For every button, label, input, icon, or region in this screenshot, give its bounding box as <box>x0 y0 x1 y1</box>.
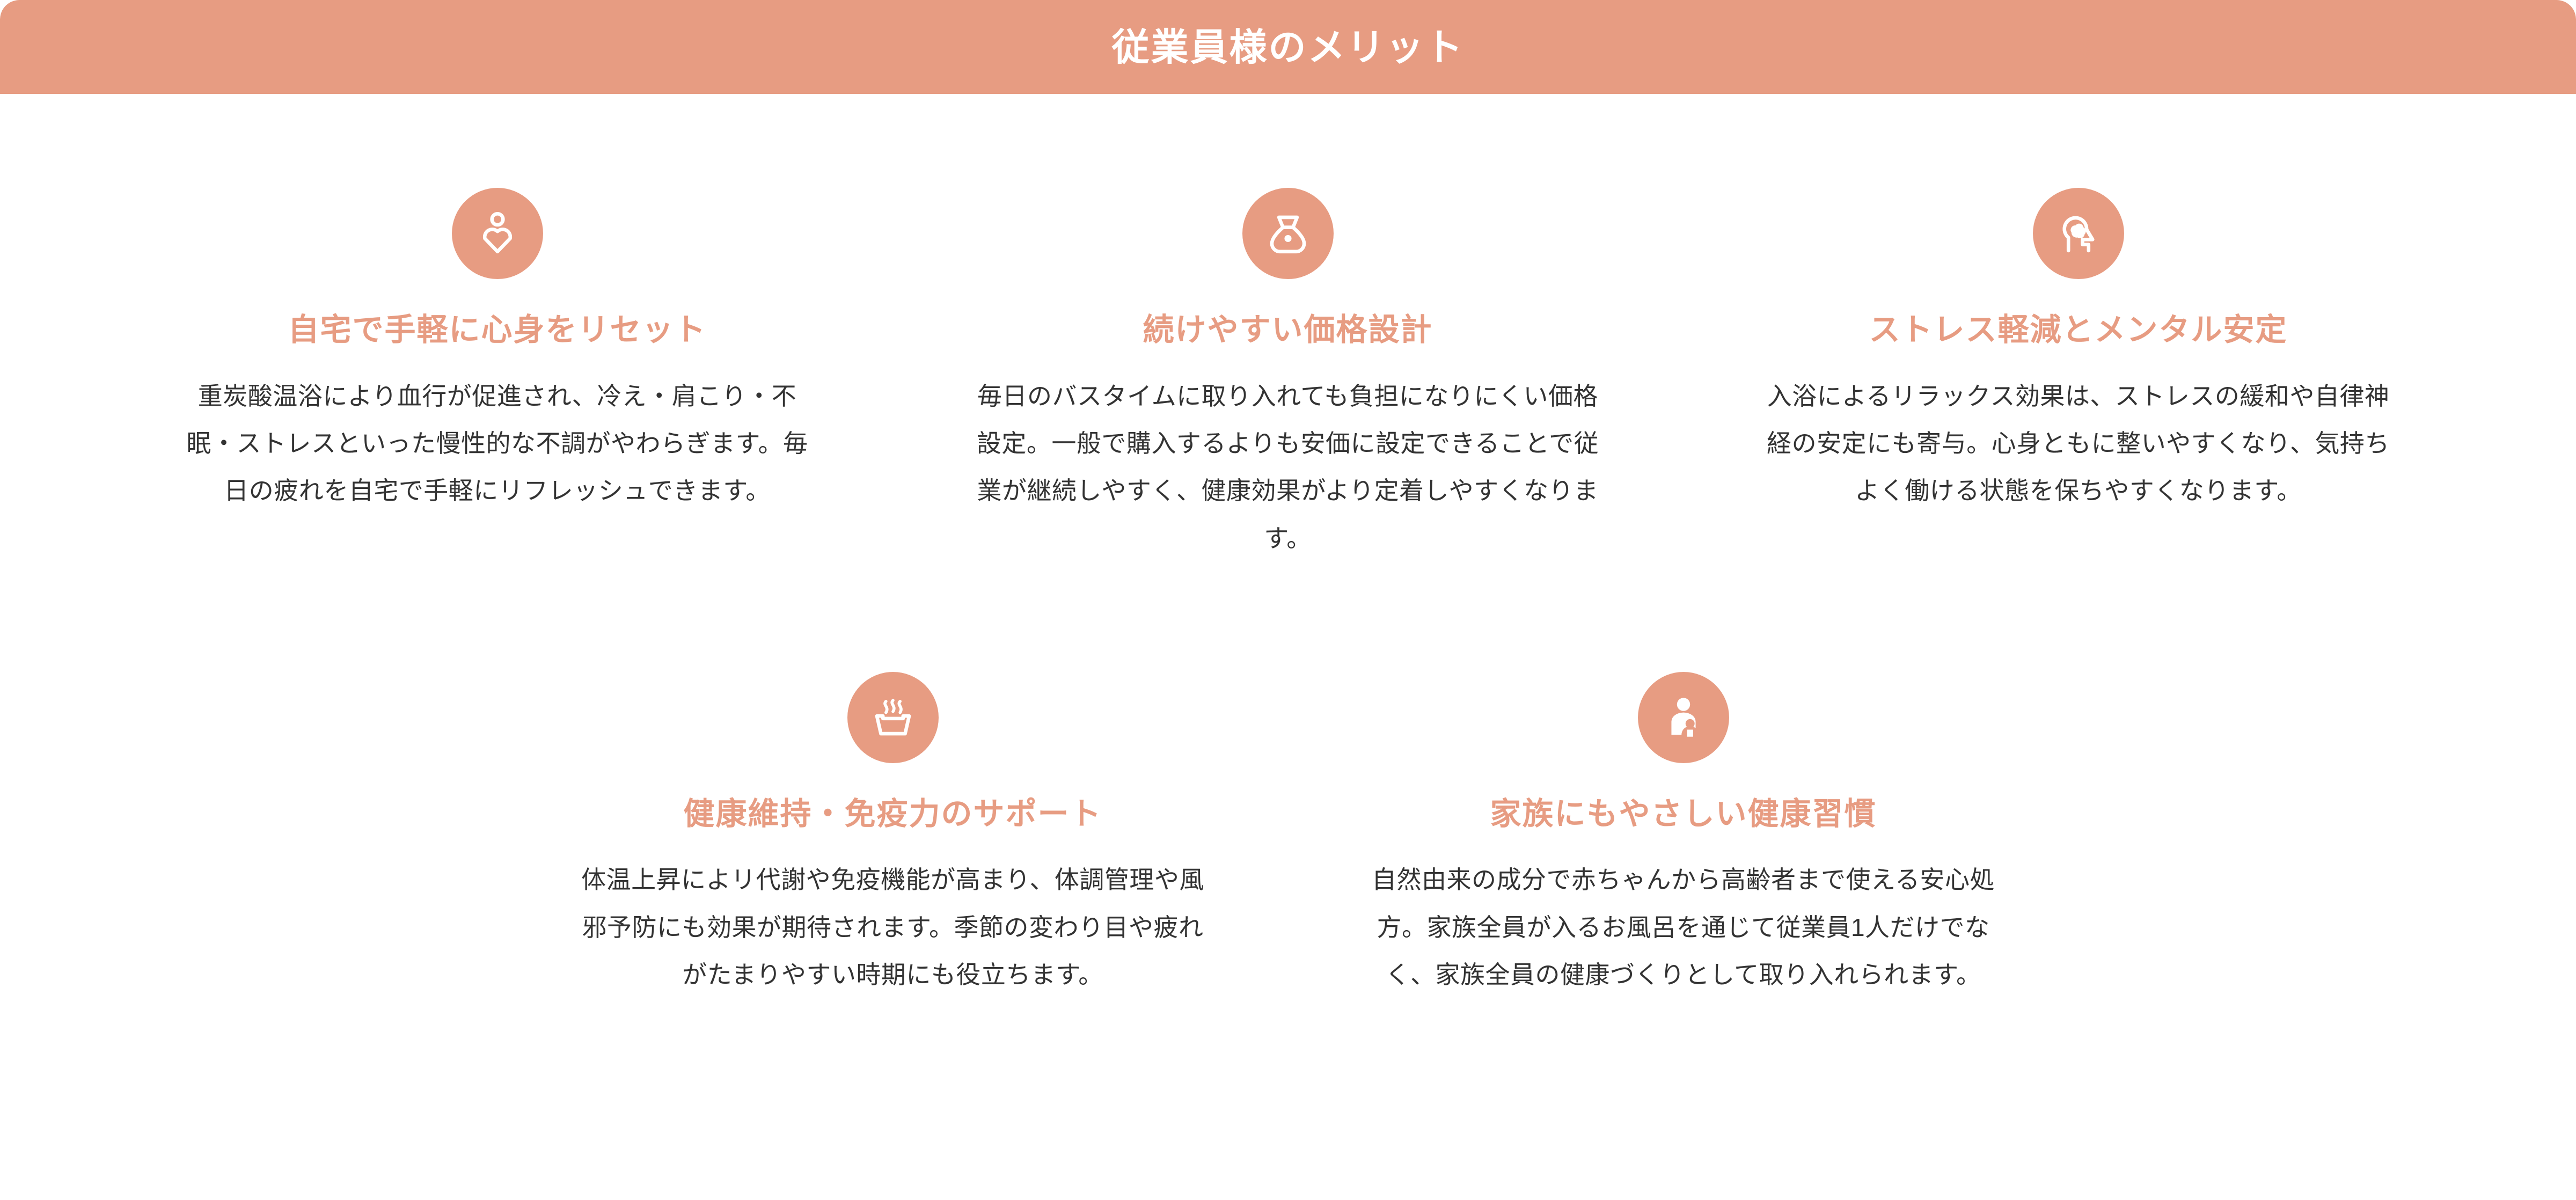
benefit-title: 家族にもやさしい健康習慣 <box>1490 795 1876 833</box>
benefits-section: 従業員様のメリット 自宅で手軽に心身をリセット 重炭酸温浴により血行が促進され、… <box>0 0 2576 1200</box>
benefit-row-top: 自宅で手軽に心身をリセット 重炭酸温浴により血行が促進され、冷え・肩こり・不眠・… <box>0 94 2576 562</box>
page-title: 従業員様のメリット <box>1112 28 1465 66</box>
benefit-body: 体温上昇によリ代謝や免疫機能が高まり、体調管理や風邪予防にも効果が期待されます。… <box>571 856 1215 998</box>
parent-child-icon <box>1638 672 1729 763</box>
benefit-title: 自宅で手軽に心身をリセット <box>288 311 706 349</box>
benefit-body: 入浴によるリラックス効果は、ストレスの緩和や自律神経の安定にも寄与。心身ともに整… <box>1762 372 2395 515</box>
benefit-row-bottom: 健康維持・免疫力のサポート 体温上昇によリ代謝や免疫機能が高まり、体調管理や風邪… <box>0 562 2576 999</box>
benefit-card-3: ストレス軽減とメンタル安定 入浴によるリラックス効果は、ストレスの緩和や自律神経… <box>1683 188 2473 562</box>
benefit-body: 自然由来の成分で赤ちゃんから高齢者まで使える安心処方。家族全員が入るお風呂を通じ… <box>1362 856 2006 998</box>
benefit-body: 重炭酸温浴により血行が促進され、冷え・肩こり・不眠・ストレスといった慢性的な不調… <box>181 372 814 515</box>
benefit-cards-area: 自宅で手軽に心身をリセット 重炭酸温浴により血行が促進され、冷え・肩こり・不眠・… <box>0 94 2576 1200</box>
benefit-card-5: 家族にもやさしい健康習慣 自然由来の成分で赤ちゃんから高齢者まで使える安心処方。… <box>1288 672 2079 999</box>
hot-bath-icon <box>847 672 939 763</box>
person-heart-icon <box>452 188 543 279</box>
benefit-card-1: 自宅で手軽に心身をリセット 重炭酸温浴により血行が促進され、冷え・肩こり・不眠・… <box>102 188 892 562</box>
benefit-card-2: 続けやすい価格設計 毎日のバスタイムに取り入れても負担になりにくい価格設定。一般… <box>892 188 1683 562</box>
benefit-title: 続けやすい価格設計 <box>1143 311 1432 349</box>
section-header: 従業員様のメリット <box>0 0 2576 94</box>
benefit-title: 健康維持・免疫力のサポート <box>683 795 1102 833</box>
benefit-card-4: 健康維持・免疫力のサポート 体温上昇によリ代謝や免疫機能が高まり、体調管理や風邪… <box>497 672 1288 999</box>
head-brain-icon <box>2033 188 2124 279</box>
benefit-title: ストレス軽減とメンタル安定 <box>1869 311 2287 349</box>
money-bag-icon <box>1242 188 1334 279</box>
benefit-body: 毎日のバスタイムに取り入れても負担になりにくい価格設定。一般で購入するよりも安価… <box>971 372 1605 562</box>
